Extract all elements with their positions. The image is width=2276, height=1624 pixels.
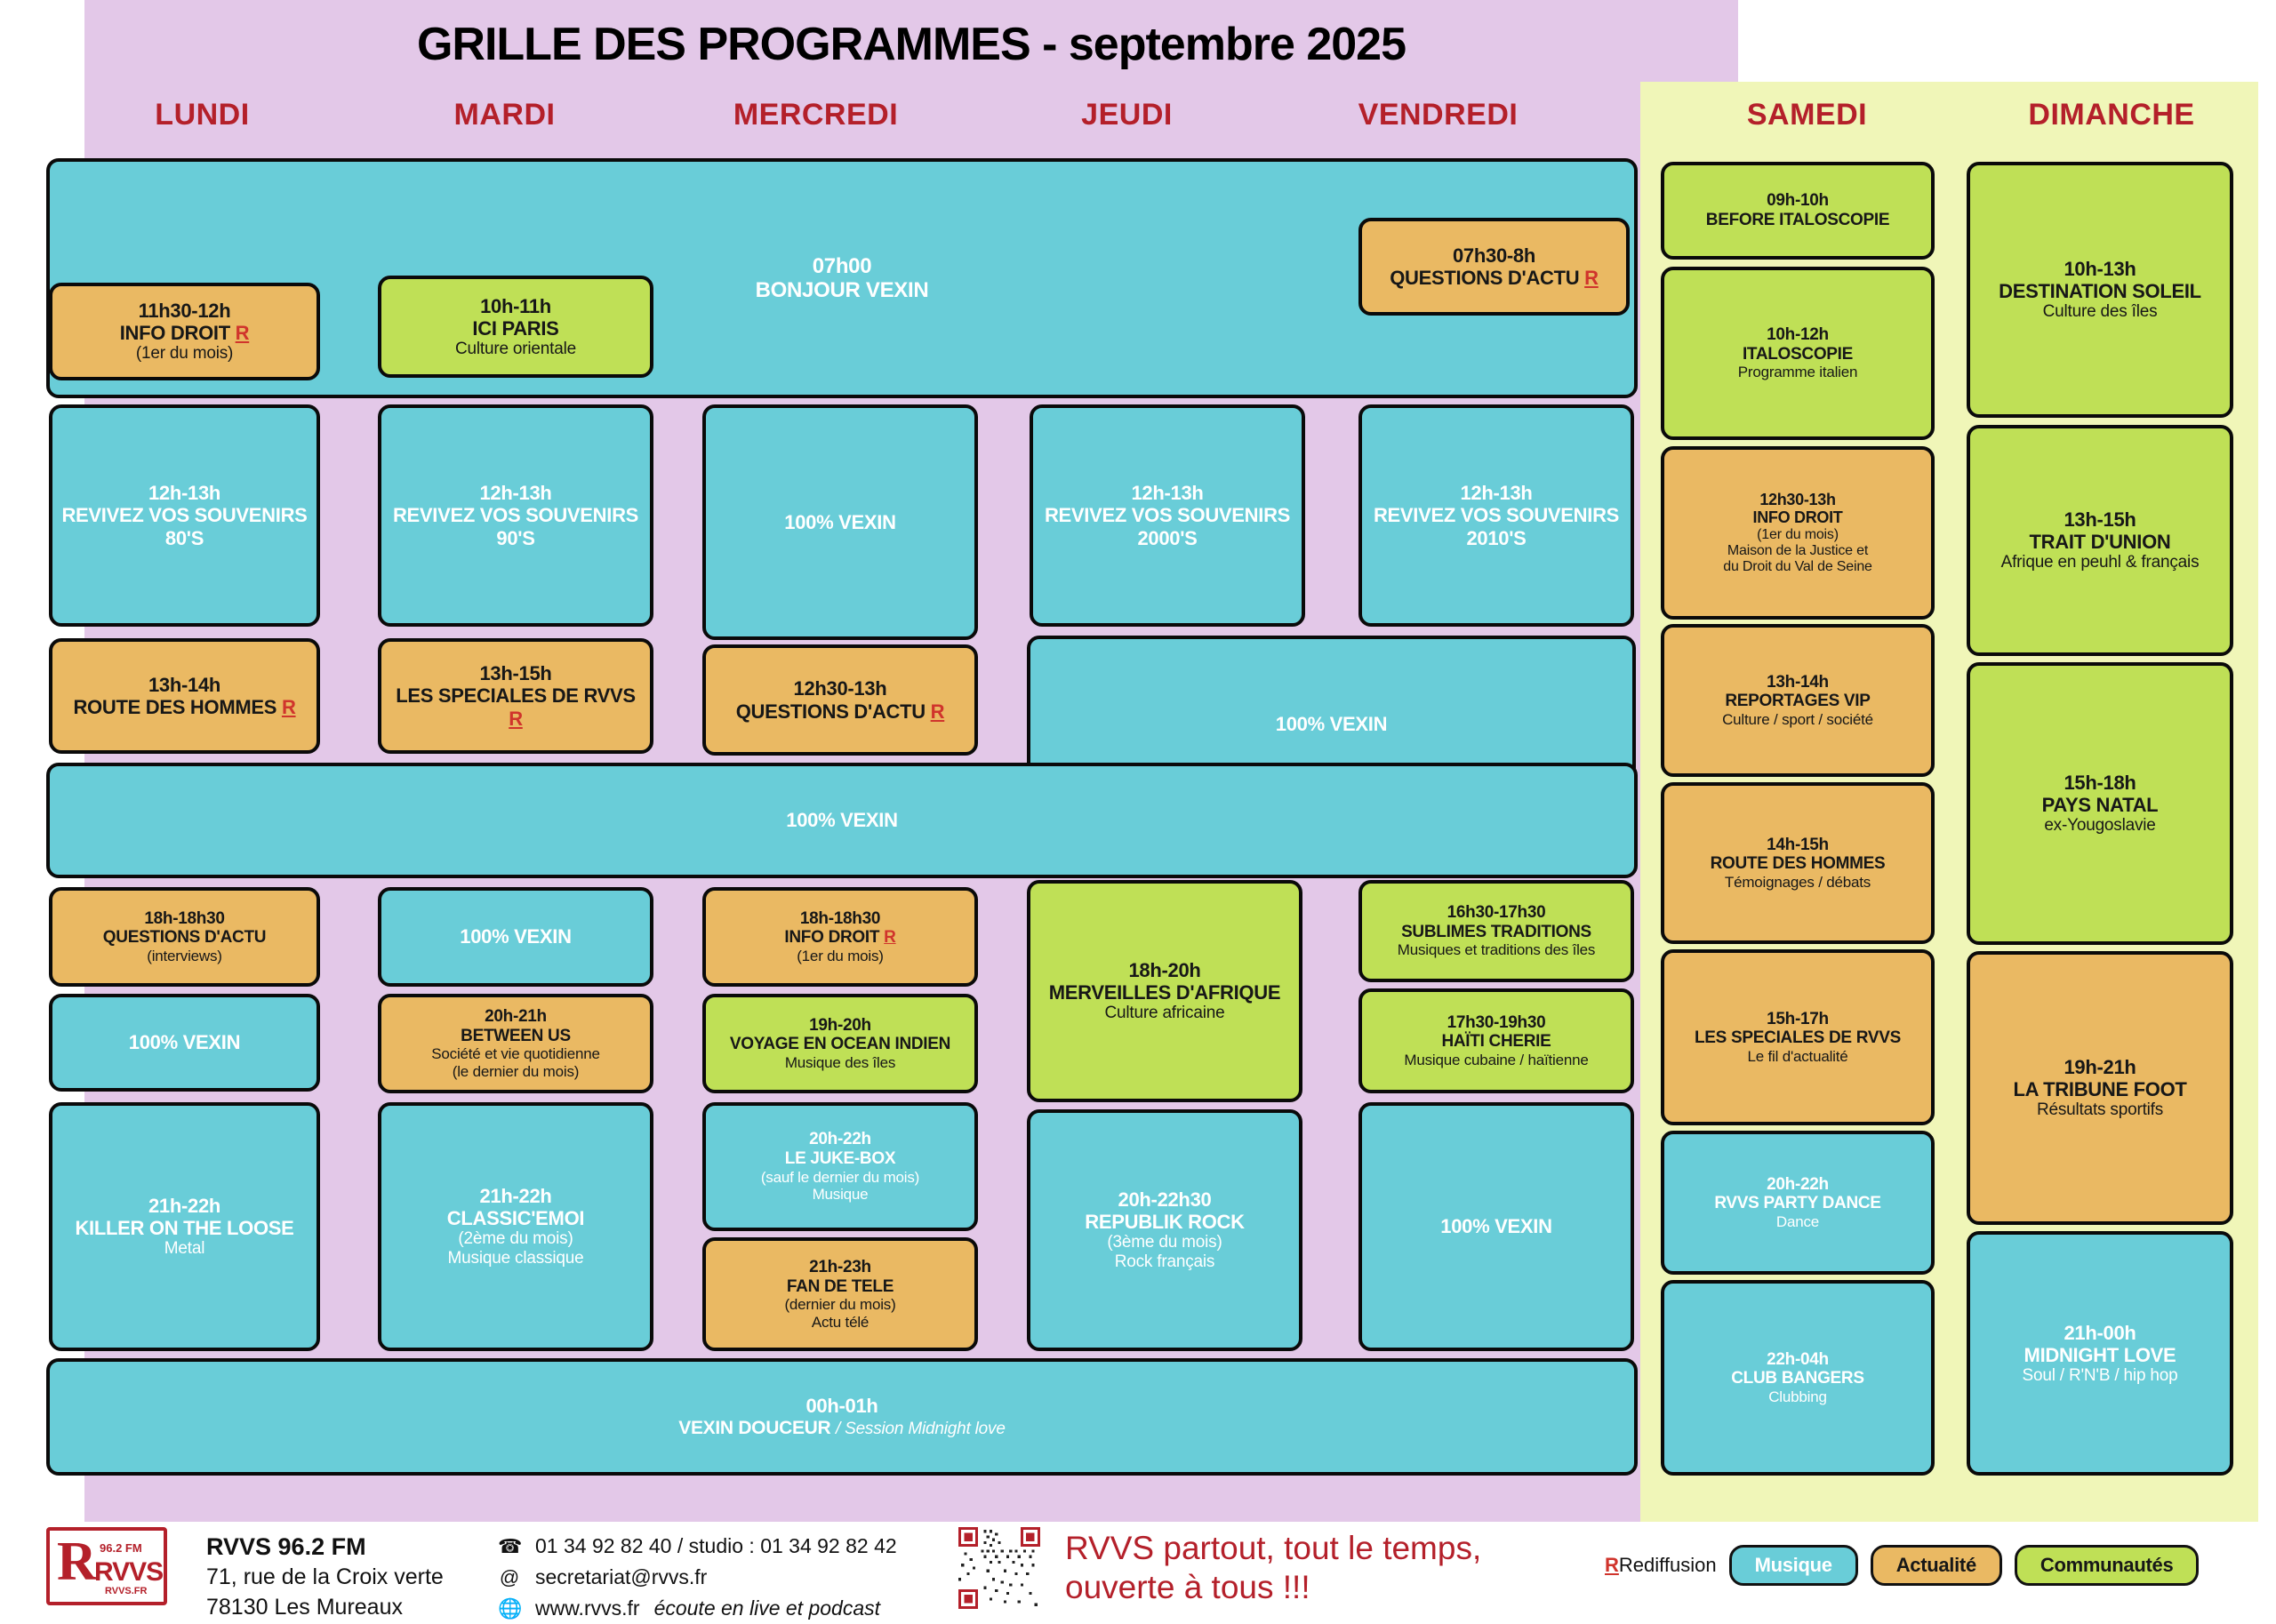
rediffusion-marker: R [236,322,250,344]
program-name: DESTINATION SOLEIL [1999,280,2201,302]
program-speciales-rvvs-samedi[interactable]: 15h-17h LES SPECIALES DE RVVS Le fil d'a… [1661,949,1935,1125]
program-name: RVVS PARTY DANCE [1714,1194,1880,1213]
program-time: 07h30-8h [1453,244,1535,267]
contact-email[interactable]: secretariat@rvvs.fr [535,1562,707,1593]
program-tribune-foot[interactable]: 19h-21h LA TRIBUNE FOOT Résultats sporti… [1967,951,2233,1225]
program-time: 10h-12h [1767,325,1829,345]
program-time: 22h-04h [1767,1350,1829,1370]
program-name: QUESTIONS D'ACTU [103,928,266,948]
contact-info: ☎ 01 34 92 82 40 / studio : 01 34 92 82 … [498,1531,897,1624]
program-sub: (1er du mois) Maison de la Justice et du… [1723,527,1871,576]
program-time: 21h-00h [2064,1322,2136,1344]
program-name: MERVEILLES D'AFRIQUE [1049,981,1280,1004]
program-rvvs-party-dance[interactable]: 20h-22h RVVS PARTY DANCE Dance [1661,1131,1935,1275]
program-time: 12h-13h [1131,482,1203,504]
program-sub: Soul / R'N'B / hip hop [2022,1366,2177,1386]
legend-pill-communautes: Communautés [2015,1545,2200,1586]
program-sub: Dance [1776,1213,1819,1230]
program-sub: Le fil d'actualité [1747,1048,1847,1065]
program-time: 12h-13h [148,482,220,504]
program-time: 09h-10h [1767,191,1829,211]
program-info-droit-samedi[interactable]: 12h30-13h INFO DROIT (1er du mois) Maiso… [1661,446,1935,620]
program-time: 19h-20h [809,1016,871,1036]
logo-frequency: 96.2 FM [100,1541,142,1555]
program-time: 20h-22h [1767,1175,1829,1195]
program-name: ROUTE DES HOMMES [1711,854,1886,874]
at-icon: @ [498,1563,521,1592]
program-name: 100% VEXIN [786,809,897,831]
contact-website[interactable]: www.rvvs.fr [535,1593,640,1624]
program-route-des-hommes-lundi[interactable]: 13h-14h ROUTE DES HOMMES R [49,638,320,754]
contact-phone: 01 34 92 82 40 / studio : 01 34 92 82 42 [535,1531,897,1562]
legend-r-letter: R [1605,1554,1619,1576]
program-time: 19h-21h [2064,1056,2136,1078]
program-name: ICI PARIS [472,317,558,340]
program-sub: Témoignages / débats [1725,874,1871,891]
program-name: LES SPECIALES DE RVVS R [387,684,645,729]
program-speciales-rvvs-mardi[interactable]: 13h-15h LES SPECIALES DE RVVS R [378,638,653,754]
program-sub: (dernier du mois) Actu télé [784,1296,895,1331]
slogan-line-2: ouverte à tous !!! [1065,1568,1527,1607]
logo-wordmark: RVVS [94,1557,163,1588]
program-questions-actu-vendredi[interactable]: 07h30-8h QUESTIONS D'ACTU R [1358,218,1630,316]
program-name: 100% VEXIN [460,925,571,948]
program-sub: (2ème du mois) Musique classique [448,1229,584,1268]
program-time: 12h30-13h [1759,491,1835,509]
program-name: CLUB BANGERS [1731,1369,1863,1388]
station-info: RVVS 96.2 FM 71, rue de la Croix verte 7… [206,1531,444,1623]
program-time: 18h-18h30 [144,909,224,929]
program-sub: Programme italien [1738,364,1858,380]
program-time: 10h-13h [2064,258,2136,280]
program-sub: Culture africaine [1105,1004,1225,1023]
program-time: 13h-15h [479,662,551,684]
legend-pill-musique: Musique [1729,1545,1858,1586]
station-address-line2: 78130 Les Mureaux [206,1593,444,1623]
program-ici-paris[interactable]: 10h-11h ICI PARIS Culture orientale [378,276,653,378]
day-header-mardi: MARDI [351,98,658,132]
program-destination-soleil[interactable]: 10h-13h DESTINATION SOLEIL Culture des î… [1967,162,2233,418]
program-time: 20h-22h [809,1130,871,1149]
day-header-dimanche: DIMANCHE [1965,98,2258,132]
program-name: SUBLIMES TRADITIONS [1401,923,1591,942]
program-republik-rock[interactable]: 20h-22h30 REPUBLIK ROCK (3ème du mois) R… [1027,1109,1302,1351]
program-name: INFO DROIT R [120,322,250,344]
program-sub: Culture orientale [455,340,576,359]
program-route-des-hommes-samedi[interactable]: 14h-15h ROUTE DES HOMMES Témoignages / d… [1661,782,1935,944]
program-questions-actu-lundi[interactable]: 18h-18h30 QUESTIONS D'ACTU (interviews) [49,887,320,987]
rvvs-logo: R 96.2 FM RVVS RVVS.FR [46,1527,171,1607]
logo-url: RVVS.FR [105,1586,147,1596]
program-sub: ex-Yougoslavie [2044,816,2155,836]
contact-website-note: écoute en live et podcast [654,1593,880,1624]
program-sub: Musiques et traditions des îles [1398,941,1595,958]
day-header-jeudi: JEUDI [974,98,1280,132]
phone-icon: ☎ [498,1532,521,1561]
program-time: 12h-13h [479,482,551,504]
program-time: 13h-14h [1767,673,1829,692]
program-time: 18h-20h [1128,959,1200,981]
program-sub: Metal [164,1239,204,1259]
program-info-droit-lundi[interactable]: 11h30-12h INFO DROIT R (1er du mois) [49,283,320,380]
program-name: VEXIN DOUCEUR / Session Midnight love [678,1418,1005,1439]
program-time: 00h-01h [805,1395,878,1417]
program-time: 16h30-17h30 [1447,903,1546,923]
program-italoscopie[interactable]: 10h-12h ITALOSCOPIE Programme italien [1661,267,1935,440]
globe-icon: 🌐 [498,1594,521,1623]
program-merveilles-afrique[interactable]: 18h-20h MERVEILLES D'AFRIQUE Culture afr… [1027,880,1302,1102]
page-title: GRILLE DES PROGRAMMES - septembre 2025 [84,18,1738,71]
program-name: LE JUKE-BOX [785,1149,895,1169]
program-vexin-vendredi-soir[interactable]: 100% VEXIN [1358,1102,1634,1351]
program-name: VOYAGE EN OCEAN INDIEN [730,1035,950,1054]
program-killer-on-the-loose[interactable]: 21h-22h KILLER ON THE LOOSE Metal [49,1102,320,1351]
program-name: BETWEEN US [461,1027,571,1046]
program-time: 15h-18h [2064,772,2136,794]
program-name: 100% VEXIN [784,511,895,533]
program-sub: Clubbing [1768,1388,1827,1405]
program-time: 15h-17h [1767,1010,1829,1029]
slogan-line-1: RVVS partout, tout le temps, [1065,1529,1527,1568]
program-before-italoscopie[interactable]: 09h-10h BEFORE ITALOSCOPIE [1661,162,1935,260]
program-name: BEFORE ITALOSCOPIE [1706,211,1889,230]
program-revivez-souvenirs-90[interactable]: 12h-13h REVIVEZ VOS SOUVENIRS 90'S [378,404,653,627]
program-vexin-lundi-soir[interactable]: 100% VEXIN [49,994,320,1092]
program-time: 12h-13h [1460,482,1532,504]
program-voyage-ocean-indien[interactable]: 19h-20h VOYAGE EN OCEAN INDIEN Musique d… [702,994,978,1093]
program-time: 21h-22h [148,1195,220,1217]
program-name: REVIVEZ VOS SOUVENIRS 80'S [58,504,311,548]
qr-code [958,1527,1040,1609]
program-name: ROUTE DES HOMMES R [73,696,295,718]
program-info-droit-mercredi[interactable]: 18h-18h30 INFO DROIT R (1er du mois) [702,887,978,987]
program-time: 10h-11h [480,295,551,317]
program-time: 11h30-12h [139,300,231,322]
program-time: 17h30-19h30 [1447,1013,1546,1033]
program-sub: Culture / sport / société [1722,711,1873,728]
program-le-juke-box[interactable]: 20h-22h LE JUKE-BOX (sauf le dernier du … [702,1102,978,1231]
program-sub: (3ème du mois) Rock français [1107,1233,1222,1271]
program-time: 12h30-13h [794,677,887,700]
program-reportages-vip[interactable]: 13h-14h REPORTAGES VIP Culture / sport /… [1661,624,1935,777]
program-between-us[interactable]: 20h-21h BETWEEN US Société et vie quotid… [378,994,653,1093]
program-name: REPUBLIK ROCK [1085,1211,1244,1233]
program-revivez-souvenirs-2000[interactable]: 12h-13h REVIVEZ VOS SOUVENIRS 2000'S [1030,404,1305,627]
program-time: 21h-23h [809,1258,871,1277]
program-time: 13h-14h [148,674,220,696]
legend: RRediffusion Musique Actualité Communaut… [1605,1545,2199,1586]
program-sub: (interviews) [147,948,222,964]
program-name: LA TRIBUNE FOOT [2013,1078,2186,1100]
program-name: ITALOSCOPIE [1743,345,1853,364]
day-header-vendredi: VENDREDI [1285,98,1591,132]
slogan: RVVS partout, tout le temps, ouverte à t… [1065,1529,1527,1606]
program-pays-natal[interactable]: 15h-18h PAYS NATAL ex-Yougoslavie [1967,662,2233,945]
program-name: REVIVEZ VOS SOUVENIRS 2010'S [1367,504,1625,548]
program-time: 20h-22h30 [1118,1188,1212,1211]
program-time: 18h-18h30 [800,909,880,929]
program-time: 20h-21h [485,1007,547,1027]
program-classic-emoi[interactable]: 21h-22h CLASSIC'EMOI (2ème du mois) Musi… [378,1102,653,1351]
program-name: BONJOUR VEXIN [756,278,929,302]
program-name: 100% VEXIN [129,1031,240,1053]
program-name: QUESTIONS D'ACTU R [736,700,945,723]
program-time: 14h-15h [1767,836,1829,855]
program-sub: (1er du mois) [797,948,884,964]
rediffusion-marker: R [1584,267,1599,289]
day-header-lundi: LUNDI [49,98,356,132]
program-name: CLASSIC'EMOI [447,1207,584,1229]
program-name: QUESTIONS D'ACTU R [1390,267,1599,289]
program-sublimes-traditions[interactable]: 16h30-17h30 SUBLIMES TRADITIONS Musiques… [1358,880,1634,982]
program-time: 07h00 [813,254,872,278]
program-name: INFO DROIT R [784,928,895,948]
day-header-samedi: SAMEDI [1654,98,1960,132]
program-sub: Afrique en peuhl & français [2001,553,2200,572]
program-vexin-mercredi-midi[interactable]: 100% VEXIN [702,404,978,640]
day-header-mercredi: MERCREDI [662,98,969,132]
program-vexin-mardi-soir[interactable]: 100% VEXIN [378,887,653,987]
program-revivez-souvenirs-2010[interactable]: 12h-13h REVIVEZ VOS SOUVENIRS 2010'S [1358,404,1634,627]
program-haiti-cherie[interactable]: 17h30-19h30 HAÏTI CHERIE Musique cubaine… [1358,988,1634,1093]
program-name: INFO DROIT [1753,508,1843,527]
program-name: PAYS NATAL [2042,794,2159,816]
program-time: 21h-22h [479,1185,551,1207]
program-sub: Résultats sportifs [2037,1100,2163,1120]
program-name: 100% VEXIN [1440,1215,1551,1237]
program-name: HAÏTI CHERIE [1441,1032,1551,1052]
legend-pill-actualite: Actualité [1871,1545,2002,1586]
rediffusion-marker: R [509,708,523,730]
program-sub: (1er du mois) [136,344,233,364]
program-fan-de-tele[interactable]: 21h-23h FAN DE TELE (dernier du mois) Ac… [702,1237,978,1351]
logo-letter-r: R [57,1536,97,1588]
legend-rediffusion: RRediffusion [1605,1554,1717,1577]
program-time: 13h-15h [2064,508,2136,531]
rediffusion-marker: R [884,928,895,947]
station-address-line1: 71, rue de la Croix verte [206,1563,444,1593]
program-midnight-love[interactable]: 21h-00h MIDNIGHT LOVE Soul / R'N'B / hip… [1967,1231,2233,1476]
program-club-bangers[interactable]: 22h-04h CLUB BANGERS Clubbing [1661,1280,1935,1476]
rediffusion-marker: R [282,696,296,718]
program-name: REPORTAGES VIP [1725,692,1870,711]
program-trait-union[interactable]: 13h-15h TRAIT D'UNION Afrique en peuhl &… [1967,425,2233,656]
program-sub: Société et vie quotidienne (le dernier d… [431,1045,600,1080]
program-name: FAN DE TELE [787,1277,894,1297]
station-name: RVVS 96.2 FM [206,1531,444,1563]
program-name: REVIVEZ VOS SOUVENIRS 90'S [387,504,645,548]
legend-r-text: Rediffusion [1619,1554,1717,1576]
program-name: REVIVEZ VOS SOUVENIRS 2000'S [1038,504,1296,548]
program-sub: Culture des îles [2043,302,2158,322]
program-name: MIDNIGHT LOVE [2024,1344,2176,1366]
program-sub: Musique cubaine / haïtienne [1404,1052,1588,1068]
program-name: KILLER ON THE LOOSE [75,1217,293,1239]
program-vexin-apres-midi[interactable]: 100% VEXIN [46,763,1638,878]
program-vexin-douceur[interactable]: 00h-01h VEXIN DOUCEUR / Session Midnight… [46,1358,1638,1476]
program-sub: (sauf le dernier du mois) Musique [761,1169,919,1204]
rediffusion-marker: R [931,700,945,723]
program-questions-actu-mercredi[interactable]: 12h30-13h QUESTIONS D'ACTU R [702,644,978,756]
program-sub: Musique des îles [785,1054,895,1071]
program-revivez-souvenirs-80[interactable]: 12h-13h REVIVEZ VOS SOUVENIRS 80'S [49,404,320,627]
program-name: TRAIT D'UNION [2030,531,2171,553]
program-name: LES SPECIALES DE RVVS [1695,1028,1901,1048]
program-name: 100% VEXIN [1276,713,1387,735]
